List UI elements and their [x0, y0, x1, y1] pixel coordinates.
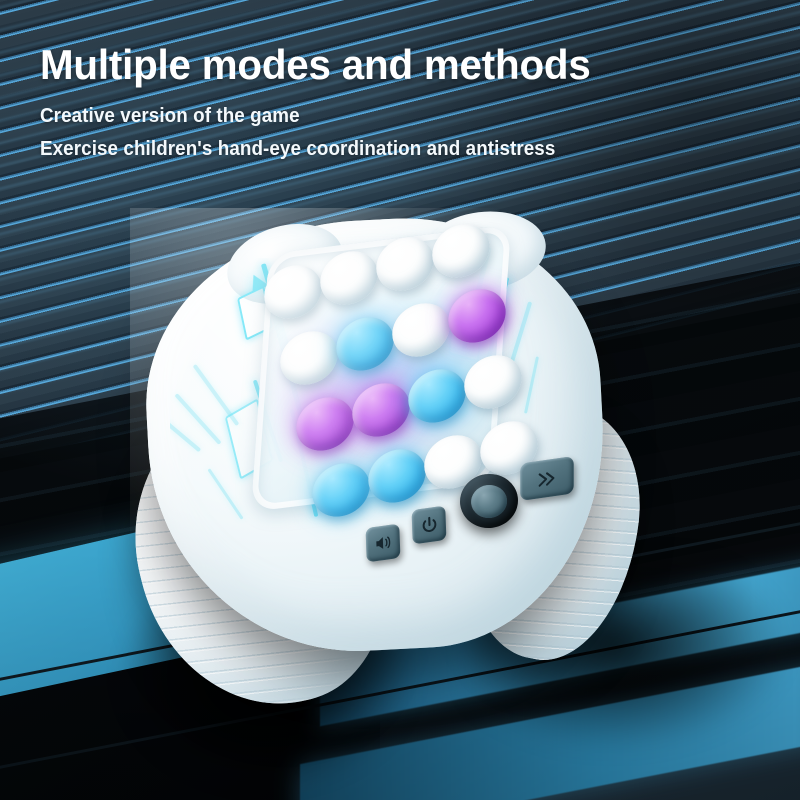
pop-button-cap — [336, 313, 394, 375]
pop-button-r2c4[interactable] — [448, 285, 506, 347]
pop-button-r4c1[interactable] — [312, 459, 370, 521]
pop-button-r4c2[interactable] — [368, 445, 426, 507]
pop-button-cap — [464, 351, 522, 413]
pop-button-cap — [432, 220, 490, 282]
pop-it-game-controller — [130, 208, 630, 728]
pop-button-r2c1[interactable] — [280, 327, 338, 389]
headline-block: Multiple modes and methods Creative vers… — [40, 42, 760, 160]
pop-button-r1c3[interactable] — [376, 233, 434, 295]
sound-wave-icon — [373, 532, 394, 555]
pop-button-cap — [352, 379, 410, 441]
pop-button-cap — [408, 365, 466, 427]
pop-button-cap — [448, 285, 506, 347]
pop-button-r3c1[interactable] — [296, 393, 354, 455]
speed-button[interactable] — [520, 456, 573, 501]
pop-button-cap — [280, 327, 338, 389]
subtitle-line-2: Exercise children's hand-eye coordinatio… — [40, 138, 717, 160]
pop-button-r2c3[interactable] — [392, 299, 450, 361]
power-button[interactable] — [412, 506, 447, 545]
pop-button-r2c2[interactable] — [336, 313, 394, 375]
pop-button-r1c1[interactable] — [264, 261, 322, 323]
pop-button-r3c4[interactable] — [464, 351, 522, 413]
pop-button-cap — [368, 445, 426, 507]
pop-button-r3c2[interactable] — [352, 379, 410, 441]
pop-button-r1c4[interactable] — [432, 220, 490, 282]
power-icon — [418, 513, 440, 537]
promo-image-stage: Multiple modes and methods Creative vers… — [0, 0, 800, 800]
pop-button-cap — [264, 261, 322, 323]
fast-forward-icon — [534, 467, 560, 491]
pop-button-cap — [320, 247, 378, 309]
sound-button[interactable] — [366, 524, 401, 563]
pop-button-r1c2[interactable] — [320, 247, 378, 309]
pop-button-cap — [392, 299, 450, 361]
page-title: Multiple modes and methods — [40, 42, 731, 87]
pop-button-cap — [312, 459, 370, 521]
pop-button-cap — [376, 233, 434, 295]
pop-button-cap — [296, 393, 354, 455]
subtitle-line-1: Creative version of the game — [40, 105, 717, 127]
pop-button-r3c3[interactable] — [408, 365, 466, 427]
round-joystick-icon — [469, 482, 509, 520]
